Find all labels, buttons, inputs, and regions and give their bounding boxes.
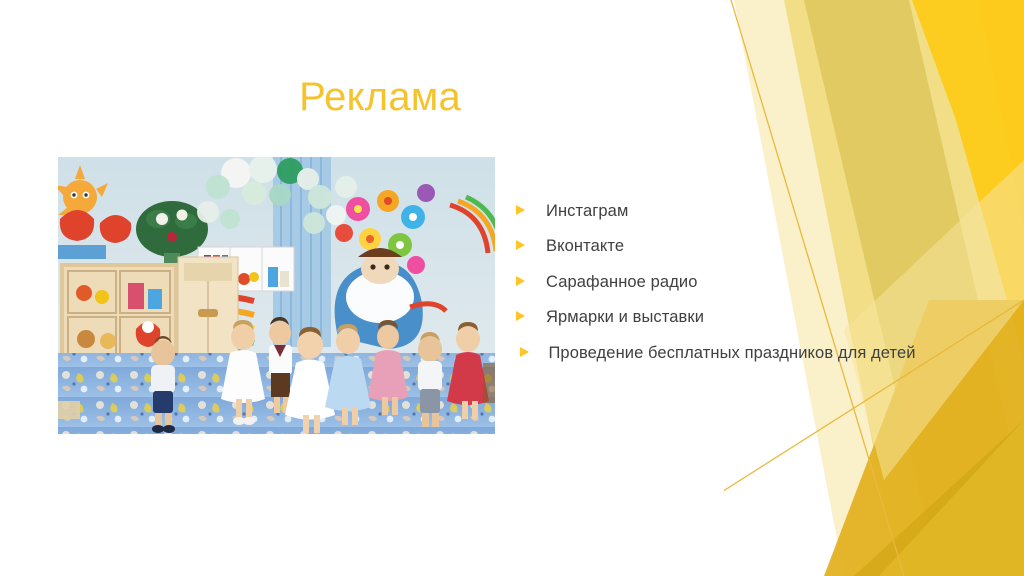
deco-shape-dark-gold [854,420,1024,576]
triangle-bullet-icon [516,311,526,323]
list-item-label: Ярмарки и выставки [546,306,704,329]
list-item-label: Проведение бесплатных праздников для дет… [548,344,915,362]
triangle-bullet-icon [520,347,530,359]
deco-shape-overlay-bottom [879,420,1024,576]
list-item[interactable]: Сарафанное радио [516,271,916,294]
slide-title: Реклама [0,74,760,120]
slide-canvas: Реклама [0,0,1024,576]
triangle-bullet-icon [516,240,526,252]
list-item-label: Вконтакте [546,235,624,258]
list-item[interactable]: Ярмарки и выставки [516,306,916,329]
kindergarten-photo: ВЫПУСК 2022 [58,157,495,434]
deco-shape-bright-yellow [914,0,1024,230]
deco-shape-bright-yellow-2 [912,0,1024,360]
triangle-bullet-icon [516,276,526,288]
list-item[interactable]: Инстаграм [516,200,916,223]
list-item[interactable]: Проведение бесплатных праздников для дет… [516,342,916,365]
list-item-label: Сарафанное радио [546,271,698,294]
bullet-list: Инстаграм Вконтакте Сарафанное радио Ярм… [516,200,916,365]
list-item[interactable]: Вконтакте [516,235,916,258]
triangle-bullet-icon [516,205,526,217]
list-item-label: Инстаграм [546,200,628,223]
